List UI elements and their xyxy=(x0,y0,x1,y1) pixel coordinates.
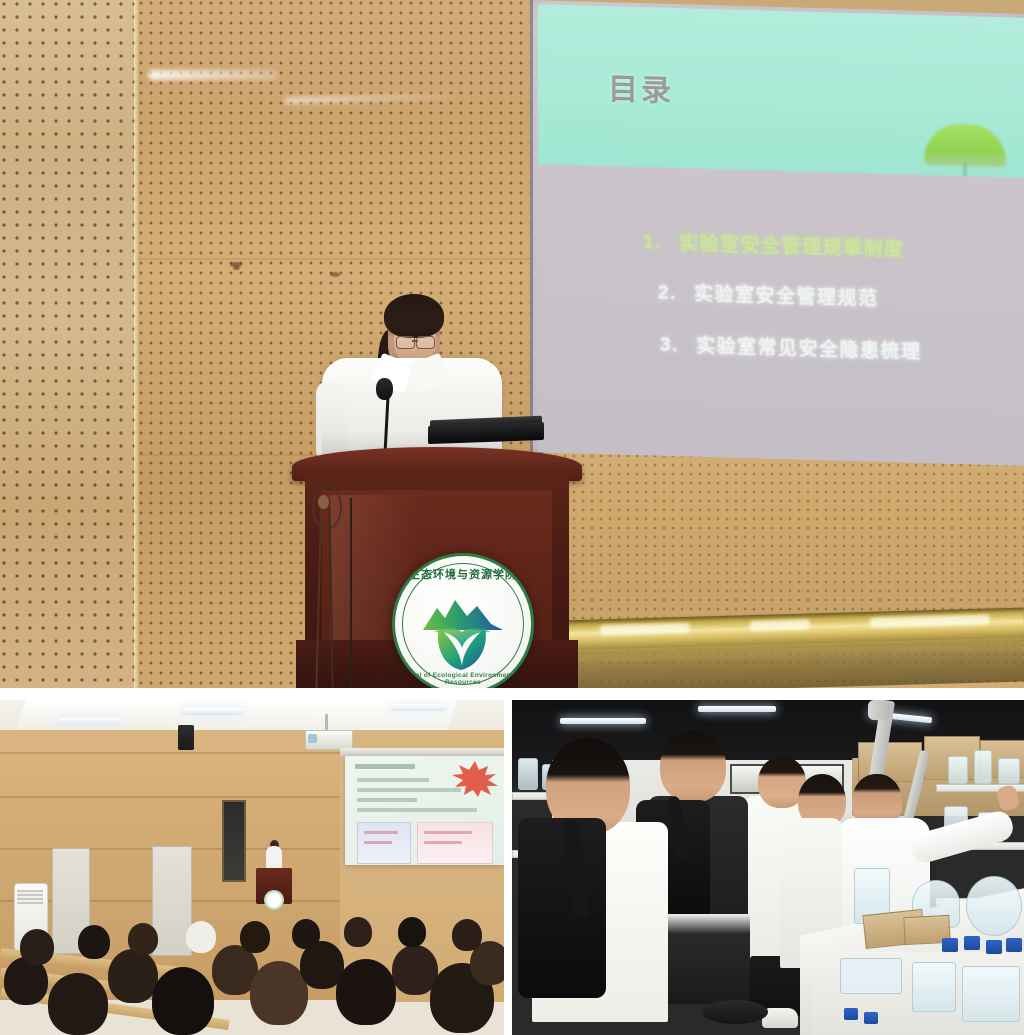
bottle-cap xyxy=(1006,938,1022,952)
slide-item-text: 实验室安全管理规范 xyxy=(694,279,879,311)
lab-glassware xyxy=(948,756,968,784)
audience-crowd xyxy=(0,915,504,1035)
bottle-cap xyxy=(942,938,958,952)
bottle-cap xyxy=(986,940,1002,954)
eyeglasses-bridge xyxy=(412,340,418,342)
lecture-presentation-photo: 目录 1. 实验室安全管理规章制度 2. 实验室安全管理规范 3. xyxy=(0,0,1024,688)
wall-window xyxy=(222,800,246,882)
slide-list-item: 3. 实验室常见安全隐患梳理 xyxy=(660,330,922,364)
lecture-hall-audience-photo xyxy=(0,700,504,1035)
logo-leaf-graphic xyxy=(433,626,493,672)
projection-screen xyxy=(345,756,504,865)
logo-mountain-graphic xyxy=(421,596,505,630)
slide-body: 1. 实验室安全管理规章制度 2. 实验室安全管理规范 3. 实验室常见安全隐患… xyxy=(538,164,1024,466)
bottle-cap xyxy=(864,1012,878,1024)
starburst-icon xyxy=(452,761,498,797)
wall-panel-left xyxy=(0,0,138,688)
wall-seam xyxy=(134,0,140,688)
lab-glassware xyxy=(962,966,1020,1022)
microphone-icon xyxy=(376,378,393,400)
cable-clip xyxy=(318,495,329,509)
slide-header-band: 目录 xyxy=(538,4,1024,178)
pipe-joint xyxy=(868,700,890,720)
wall-mark xyxy=(330,272,340,277)
wall-horizontal-seam xyxy=(138,258,544,260)
projector-lens xyxy=(308,734,317,743)
school-logo: 生态环境与资源学院 xyxy=(392,553,534,688)
collage-gap-horizontal xyxy=(0,688,1024,700)
lab-glassware xyxy=(912,962,956,1012)
plastic-bag xyxy=(840,958,902,994)
slide-table-right xyxy=(417,822,493,864)
wall-smudge xyxy=(148,70,278,80)
speaker-hair xyxy=(384,294,444,338)
slide-title: 目录 xyxy=(608,64,674,110)
cable xyxy=(350,498,352,688)
bottle-cap xyxy=(964,936,980,950)
slide-item-number: 2. xyxy=(658,283,678,306)
lab-stool xyxy=(702,1000,768,1024)
backpack xyxy=(518,818,606,998)
ceiling-light xyxy=(560,718,646,724)
slide-title-bar xyxy=(355,764,415,769)
slide-list-item: 2. 实验室安全管理规范 xyxy=(658,278,879,311)
slide-item-number: 3. xyxy=(660,335,680,358)
podium-logo xyxy=(264,890,284,910)
student-head xyxy=(660,730,726,802)
eyeglasses-right-lens xyxy=(416,336,435,349)
ceiling-light xyxy=(390,704,449,711)
lab-glassware xyxy=(518,758,538,790)
screen-frame xyxy=(340,748,504,756)
projector-screen: 目录 1. 实验室安全管理规章制度 2. 实验室安全管理规范 3. xyxy=(530,0,1024,466)
photo-collage-page: 目录 1. 实验室安全管理规章制度 2. 实验室安全管理规范 3. xyxy=(0,0,1024,1035)
slide-table-left xyxy=(357,822,411,864)
slide-list-item: 1. 实验室安全管理规章制度 xyxy=(643,227,905,261)
logo-chinese-text: 生态环境与资源学院 xyxy=(395,566,531,582)
logo-english-text: School of Ecological Environment and Res… xyxy=(395,672,531,686)
lab-round-flask xyxy=(966,876,1022,936)
student-shorts xyxy=(654,914,750,1004)
ceiling-light xyxy=(180,708,245,715)
ceiling-light xyxy=(56,718,121,725)
slide-item-text: 实验室安全管理规章制度 xyxy=(679,228,905,261)
bottle-cap xyxy=(844,1008,858,1020)
collage-gap-vertical xyxy=(504,700,512,1035)
slide-item-text: 实验室常见安全隐患梳理 xyxy=(696,331,922,364)
ceiling-light xyxy=(698,706,776,712)
slide-item-number: 1. xyxy=(643,232,663,255)
ac-vent xyxy=(17,890,43,904)
laboratory-tour-photo xyxy=(512,700,1024,1035)
lab-glassware xyxy=(974,750,992,784)
eyeglasses-left-lens xyxy=(396,336,415,349)
wall-speaker-icon xyxy=(178,725,194,750)
lab-glassware xyxy=(998,758,1020,784)
wall-mark xyxy=(233,266,240,270)
